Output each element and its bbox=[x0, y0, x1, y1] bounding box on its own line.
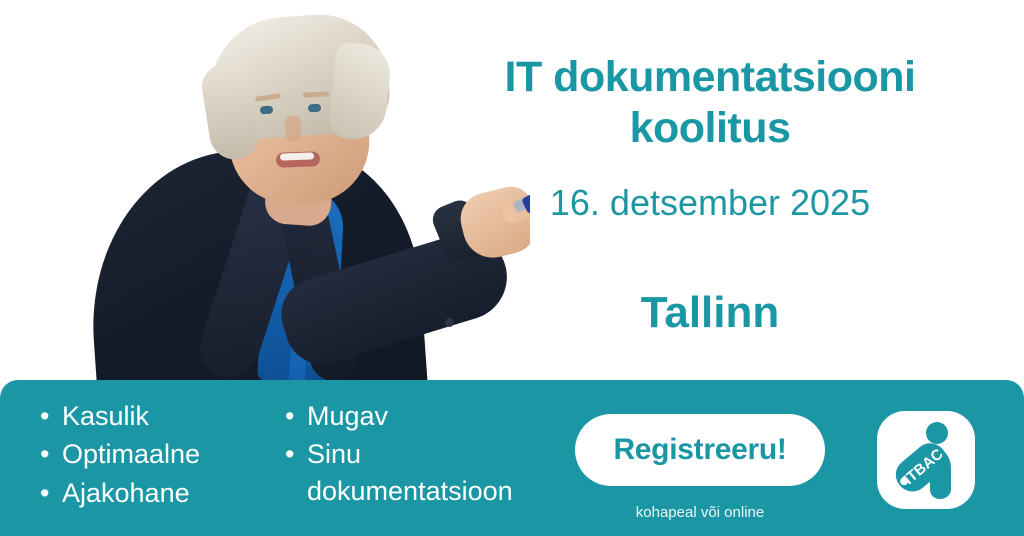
bullet-dot-icon: • bbox=[40, 475, 58, 511]
headline-line-2: koolitus bbox=[430, 103, 990, 154]
list-item: • Mugav bbox=[285, 398, 555, 434]
list-item-label: Kasulik bbox=[62, 398, 255, 434]
register-button[interactable]: Registreeru! bbox=[575, 414, 825, 486]
event-date: 16. detsember 2025 bbox=[430, 182, 990, 224]
presenter-nose bbox=[284, 116, 301, 143]
presenter-eye-left bbox=[260, 106, 274, 115]
bullet-dot-icon: • bbox=[285, 398, 303, 434]
list-item-label: Optimaalne bbox=[62, 436, 255, 472]
list-item: • Optimaalne bbox=[40, 436, 255, 472]
presenter-eye-right bbox=[308, 104, 322, 113]
list-item-label: Mugav bbox=[307, 398, 555, 434]
benefits-column-right: • Mugav • Sinu dokumentatsioon bbox=[285, 398, 555, 513]
list-item: • Ajakohane bbox=[40, 475, 255, 511]
list-item-label: Ajakohane bbox=[62, 475, 255, 511]
headline-line-1: IT dokumentatsiooni bbox=[430, 52, 990, 103]
itbac-logo[interactable]: ITBAC bbox=[877, 411, 975, 509]
list-item: • Sinu dokumentatsioon bbox=[285, 436, 555, 509]
event-city: Tallinn bbox=[430, 288, 990, 338]
bullet-dot-icon: • bbox=[285, 436, 303, 472]
bullet-dot-icon: • bbox=[40, 436, 58, 472]
training-promo-banner: IT dokumentatsiooni koolitus 16. detsemb… bbox=[0, 0, 1024, 536]
register-button-label: Registreeru! bbox=[613, 433, 786, 467]
bullet-dot-icon: • bbox=[40, 398, 58, 434]
list-item-label: Sinu dokumentatsioon bbox=[307, 436, 555, 509]
benefits-column-left: • Kasulik • Optimaalne • Ajakohane bbox=[40, 398, 255, 513]
list-item: • Kasulik bbox=[40, 398, 255, 434]
itbac-person-badge-icon: ITBAC bbox=[877, 411, 975, 509]
presenter-hair-side-right bbox=[327, 41, 393, 142]
presenter-teeth bbox=[280, 152, 314, 160]
attendance-mode-note: kohapeal või online bbox=[575, 504, 825, 521]
benefits-list: • Kasulik • Optimaalne • Ajakohane • Mug… bbox=[40, 398, 560, 513]
page-title: IT dokumentatsiooni koolitus bbox=[430, 52, 990, 153]
